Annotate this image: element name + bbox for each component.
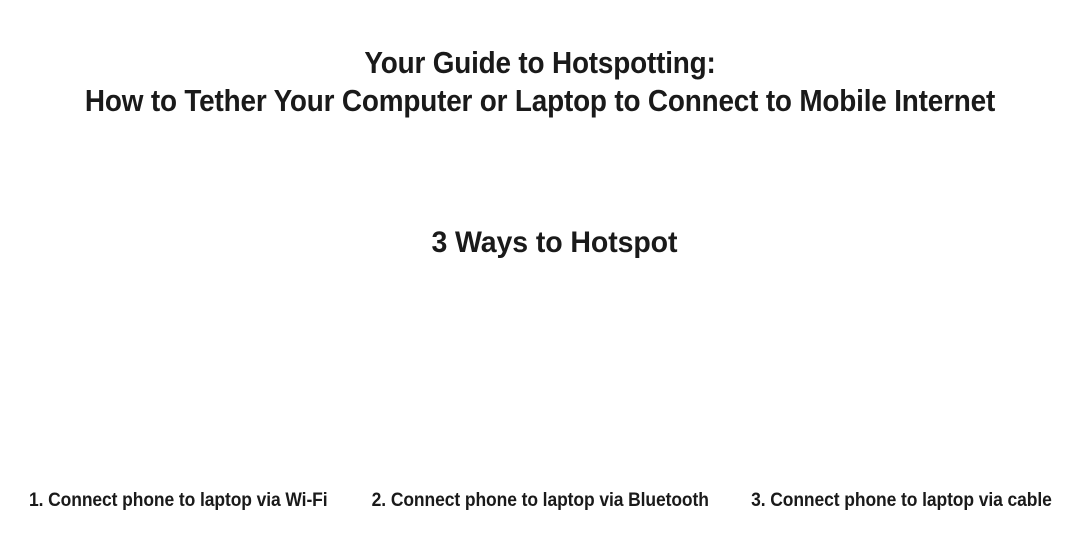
method-caption-label: 2. Connect phone to laptop via Bluetooth xyxy=(371,489,708,513)
illustration-slot-bluetooth xyxy=(360,285,720,480)
method-caption-label: 1. Connect phone to laptop via Wi-Fi xyxy=(29,489,328,513)
illustration-band xyxy=(0,285,1080,480)
title-line-2: How to Tether Your Computer or Laptop to… xyxy=(54,82,1026,120)
method-caption-wifi: 1. Connect phone to laptop via Wi-Fi xyxy=(0,488,357,514)
infographic-page: Your Guide to Hotspotting: How to Tether… xyxy=(0,0,1080,552)
method-caption-bluetooth: 2. Connect phone to laptop via Bluetooth xyxy=(357,488,724,514)
illustration-slot-wifi xyxy=(0,285,360,480)
section-heading-container: 3 Ways to Hotspot xyxy=(0,224,1080,262)
illustration-slot-cable xyxy=(720,285,1080,480)
method-caption-label: 3. Connect phone to laptop via cable xyxy=(751,489,1052,513)
title-line-1: Your Guide to Hotspotting: xyxy=(54,44,1026,82)
method-caption-cable: 3. Connect phone to laptop via cable xyxy=(723,488,1080,514)
caption-row: 1. Connect phone to laptop via Wi-Fi 2. … xyxy=(0,488,1080,514)
section-heading: 3 Ways to Hotspot xyxy=(431,224,677,262)
page-title: Your Guide to Hotspotting: How to Tether… xyxy=(0,44,1080,120)
